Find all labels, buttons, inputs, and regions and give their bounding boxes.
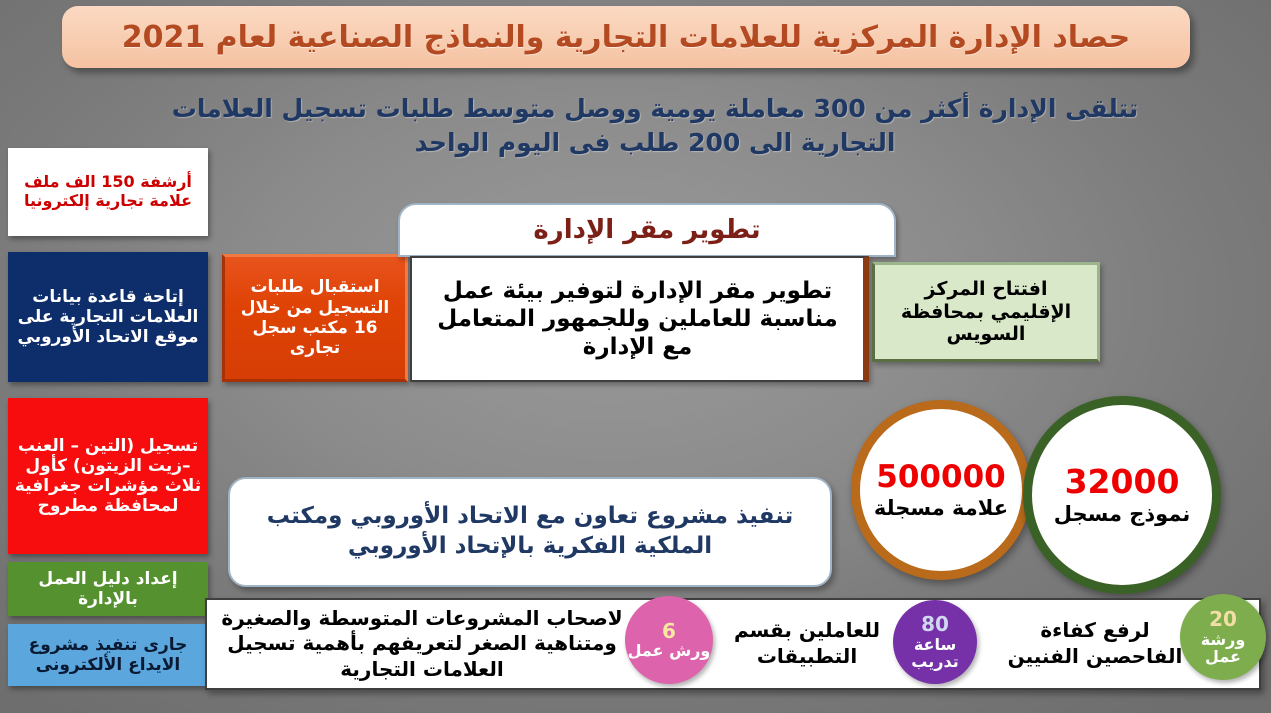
stat-registered-models-label: نموذج مسجل <box>1054 503 1191 526</box>
hq-development-title: تطوير مقر الإدارة <box>533 215 760 245</box>
chip-workshops-20-number: 20 <box>1209 609 1237 631</box>
stat-registered-models-value: 32000 <box>1065 464 1180 500</box>
chip-workshops-6: 6 ورش عمل <box>625 596 713 684</box>
side-box-archive-label: أرشفة 150 الف ملف علامة تجارية إلكترونيا <box>13 173 203 211</box>
bottom-text-technical-examiners: لرفع كفاءة الفاحصين الفنيين <box>1000 604 1190 684</box>
chip-workshops-6-label: ورش عمل <box>628 642 711 659</box>
intro-line-1: تتلقى الإدارة أكثر من 300 معاملة يومية و… <box>100 92 1210 126</box>
eu-cooperation-label: تنفيذ مشروع تعاون مع الاتحاد الأوروبي وم… <box>244 502 816 562</box>
infographic-canvas: حصاد الإدارة المركزية للعلامات التجارية … <box>0 0 1271 713</box>
suez-regional-center-label: افتتاح المركز الإقليمي بمحافظة السويس <box>881 278 1091 346</box>
side-box-e-deposit-label: جارى تنفيذ مشروع الايداع الألكترونى <box>13 635 203 675</box>
eu-cooperation-box: تنفيذ مشروع تعاون مع الاتحاد الأوروبي وم… <box>228 477 832 587</box>
chip-workshops-20: 20 ورشة عمل <box>1180 594 1266 680</box>
side-box-work-guide: إعداد دليل العمل بالإدارة <box>8 562 208 616</box>
registry-offices-label: استقبال طلبات التسجيل من خلال 16 مكتب سج… <box>229 277 401 359</box>
intro-paragraph: تتلقى الإدارة أكثر من 300 معاملة يومية و… <box>100 92 1210 160</box>
side-box-database-label: إتاحة قاعدة بيانات العلامات التجارية على… <box>13 287 203 347</box>
bottom-text-sme-awareness-label: لاصحاب المشروعات المتوسطة والصغيرة ومتنا… <box>212 606 632 683</box>
side-box-database: إتاحة قاعدة بيانات العلامات التجارية على… <box>8 252 208 382</box>
side-box-geographic-indications: تسجيل (التين – العنب –زيت الزيتون) كأول … <box>8 398 208 554</box>
bottom-text-applications-staff: للعاملين بقسم التطبيقات <box>712 604 902 684</box>
bottom-text-sme-awareness: لاصحاب المشروعات المتوسطة والصغيرة ومتنا… <box>212 604 632 684</box>
page-title-banner: حصاد الإدارة المركزية للعلامات التجارية … <box>62 6 1190 68</box>
hq-development-header: تطوير مقر الإدارة <box>398 203 896 257</box>
side-box-work-guide-label: إعداد دليل العمل بالإدارة <box>13 569 203 609</box>
bottom-text-applications-staff-label: للعاملين بقسم التطبيقات <box>712 618 902 669</box>
stat-registered-marks-label: علامة مسجلة <box>874 497 1008 520</box>
stat-circle-registered-marks: 500000 علامة مسجلة <box>851 400 1031 580</box>
stat-registered-marks-value: 500000 <box>876 460 1005 494</box>
suez-regional-center-box: افتتاح المركز الإقليمي بمحافظة السويس <box>872 262 1100 362</box>
side-box-e-deposit: جارى تنفيذ مشروع الايداع الألكترونى <box>8 624 208 686</box>
intro-line-2: التجارية الى 200 طلب فى اليوم الواحد <box>100 126 1210 160</box>
hq-development-text: تطوير مقر الإدارة لتوفير بيئة عمل مناسبة… <box>420 277 855 361</box>
stat-circle-registered-models: 32000 نموذج مسجل <box>1023 396 1221 594</box>
chip-workshops-20-label: ورشة عمل <box>1180 631 1266 666</box>
registry-offices-box: استقبال طلبات التسجيل من خلال 16 مكتب سج… <box>222 254 408 382</box>
chip-training-hours-80-number: 80 <box>921 614 949 636</box>
chip-workshops-6-number: 6 <box>662 621 676 643</box>
bottom-text-technical-examiners-label: لرفع كفاءة الفاحصين الفنيين <box>1000 618 1190 669</box>
chip-training-hours-80-label: ساعة تدريب <box>893 636 977 671</box>
chip-training-hours-80: 80 ساعة تدريب <box>893 600 977 684</box>
hq-development-body: تطوير مقر الإدارة لتوفير بيئة عمل مناسبة… <box>410 256 869 382</box>
page-title: حصاد الإدارة المركزية للعلامات التجارية … <box>122 20 1131 55</box>
side-box-archive: أرشفة 150 الف ملف علامة تجارية إلكترونيا <box>8 148 208 236</box>
side-box-geographic-indications-label: تسجيل (التين – العنب –زيت الزيتون) كأول … <box>13 436 203 516</box>
